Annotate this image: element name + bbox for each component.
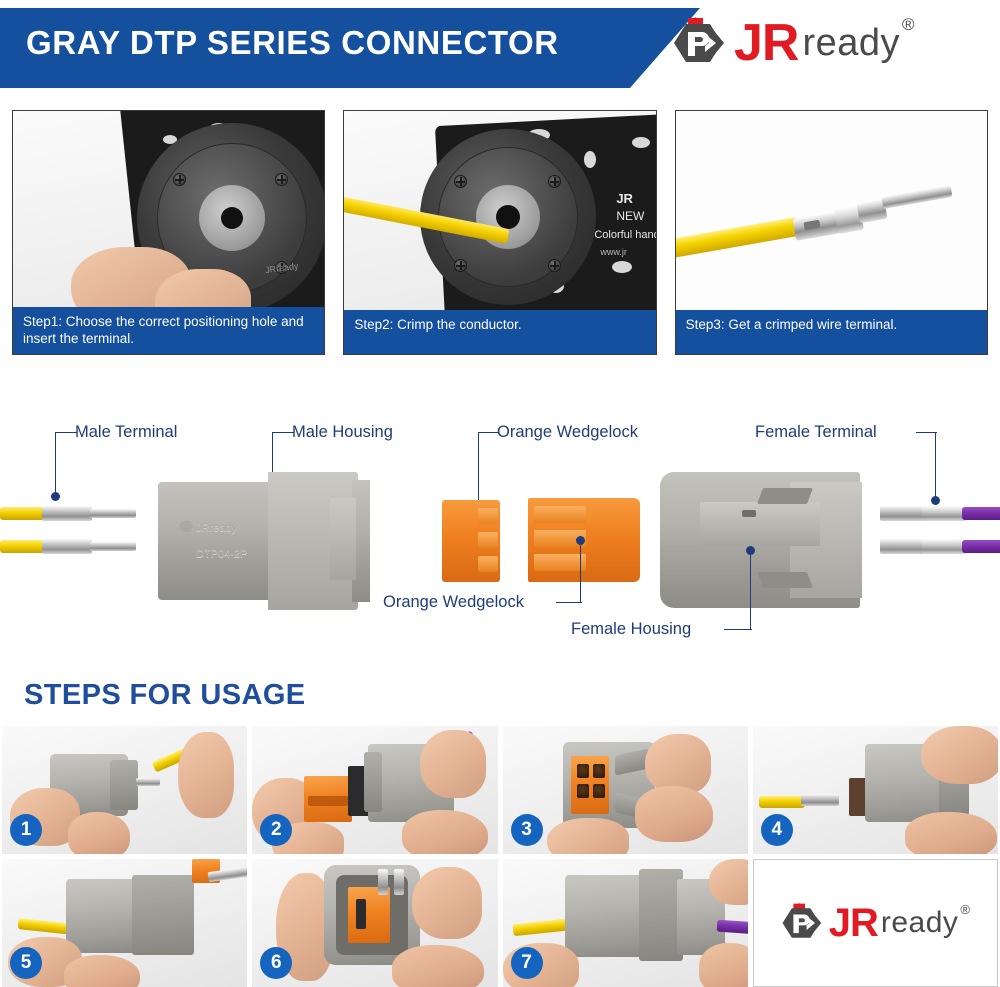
step-badge-3: 3	[511, 814, 543, 846]
usage-step-cell-1: 1	[2, 726, 247, 854]
steps-for-usage-heading: STEPS FOR USAGE	[24, 679, 306, 712]
crimp-step-photo-1: JRready	[13, 111, 324, 307]
housing-emboss-partnumber: DTP04-2P	[196, 548, 247, 560]
crimp-step-caption-1: Step1: Choose the correct positioning ho…	[13, 307, 324, 354]
leader-dot-female-terminal	[931, 496, 940, 505]
housing-emboss-logo-icon	[178, 520, 194, 533]
label-female-housing: Female Housing	[571, 620, 691, 639]
step-badge-1: 1	[10, 814, 42, 846]
step-badge-6: 6	[260, 947, 292, 979]
usage-step-cell-7: 7	[503, 859, 748, 987]
footer-logo-text-ready: ready	[881, 903, 959, 943]
crimp-step-photo-2: JR NEW Colorful hand www.jr	[344, 111, 655, 310]
step-badge-2: 2	[260, 814, 292, 846]
brand-logo: JR ready ®	[672, 16, 915, 70]
jr-hexagon-arrow-mark	[672, 16, 734, 70]
leader-dot-male-terminal	[51, 492, 60, 501]
registered-trademark-icon: ®	[902, 14, 915, 36]
step-badge-7: 7	[511, 947, 543, 979]
usage-step-cell-5: 5	[2, 859, 247, 987]
footer-brand-logo: JR ready ®	[781, 902, 970, 944]
usage-step-cell-3: 3	[503, 726, 748, 854]
usage-step-cell-4: 4	[753, 726, 998, 854]
label-female-terminal: Female Terminal	[755, 423, 877, 442]
label-orange-wedgelock-top: Orange Wedgelock	[497, 423, 638, 442]
logo-text-jr: JR	[734, 17, 798, 69]
label-orange-wedgelock-bottom: Orange Wedgelock	[383, 593, 524, 612]
step-badge-5: 5	[10, 947, 42, 979]
usage-steps-grid: 1 2 3 4	[0, 726, 1000, 987]
logo-text-ready: ready	[802, 17, 900, 69]
crimp-step-card-2: JR NEW Colorful hand www.jr Step2: Crimp…	[343, 110, 656, 355]
label-male-terminal: Male Terminal	[75, 423, 177, 442]
step-badge-4: 4	[761, 814, 793, 846]
housing-emboss-brand: JRready	[196, 522, 237, 534]
page-title: GRAY DTP SERIES CONNECTOR	[26, 24, 559, 62]
connector-parts-diagram: Male Terminal Male Housing Orange Wedgel…	[0, 410, 1000, 650]
usage-step-cell-6: 6	[252, 859, 497, 987]
leader-dot-wedgelock-bottom	[576, 536, 585, 545]
crimp-step-caption-3: Step3: Get a crimped wire terminal.	[676, 310, 987, 354]
crimp-step-card-3: Step3: Get a crimped wire terminal.	[675, 110, 988, 355]
leader-dot-female-housing	[746, 546, 755, 555]
usage-step-cell-2: 2	[252, 726, 497, 854]
footer-logo-cell: JR ready ®	[753, 859, 998, 987]
crimp-steps-photo-row: JRready Step1: Choose the correct positi…	[0, 110, 1000, 355]
crimp-step-caption-2: Step2: Crimp the conductor.	[344, 310, 655, 354]
crimp-step-photo-3	[676, 111, 987, 310]
footer-logo-text-jr: JR	[829, 903, 878, 943]
page-header: GRAY DTP SERIES CONNECTOR JR ready ®	[0, 0, 1000, 88]
label-male-housing: Male Housing	[292, 423, 393, 442]
jr-hexagon-arrow-mark	[781, 902, 829, 944]
footer-registered-trademark-icon: ®	[960, 902, 970, 918]
crimp-step-card-1: JRready Step1: Choose the correct positi…	[12, 110, 325, 355]
